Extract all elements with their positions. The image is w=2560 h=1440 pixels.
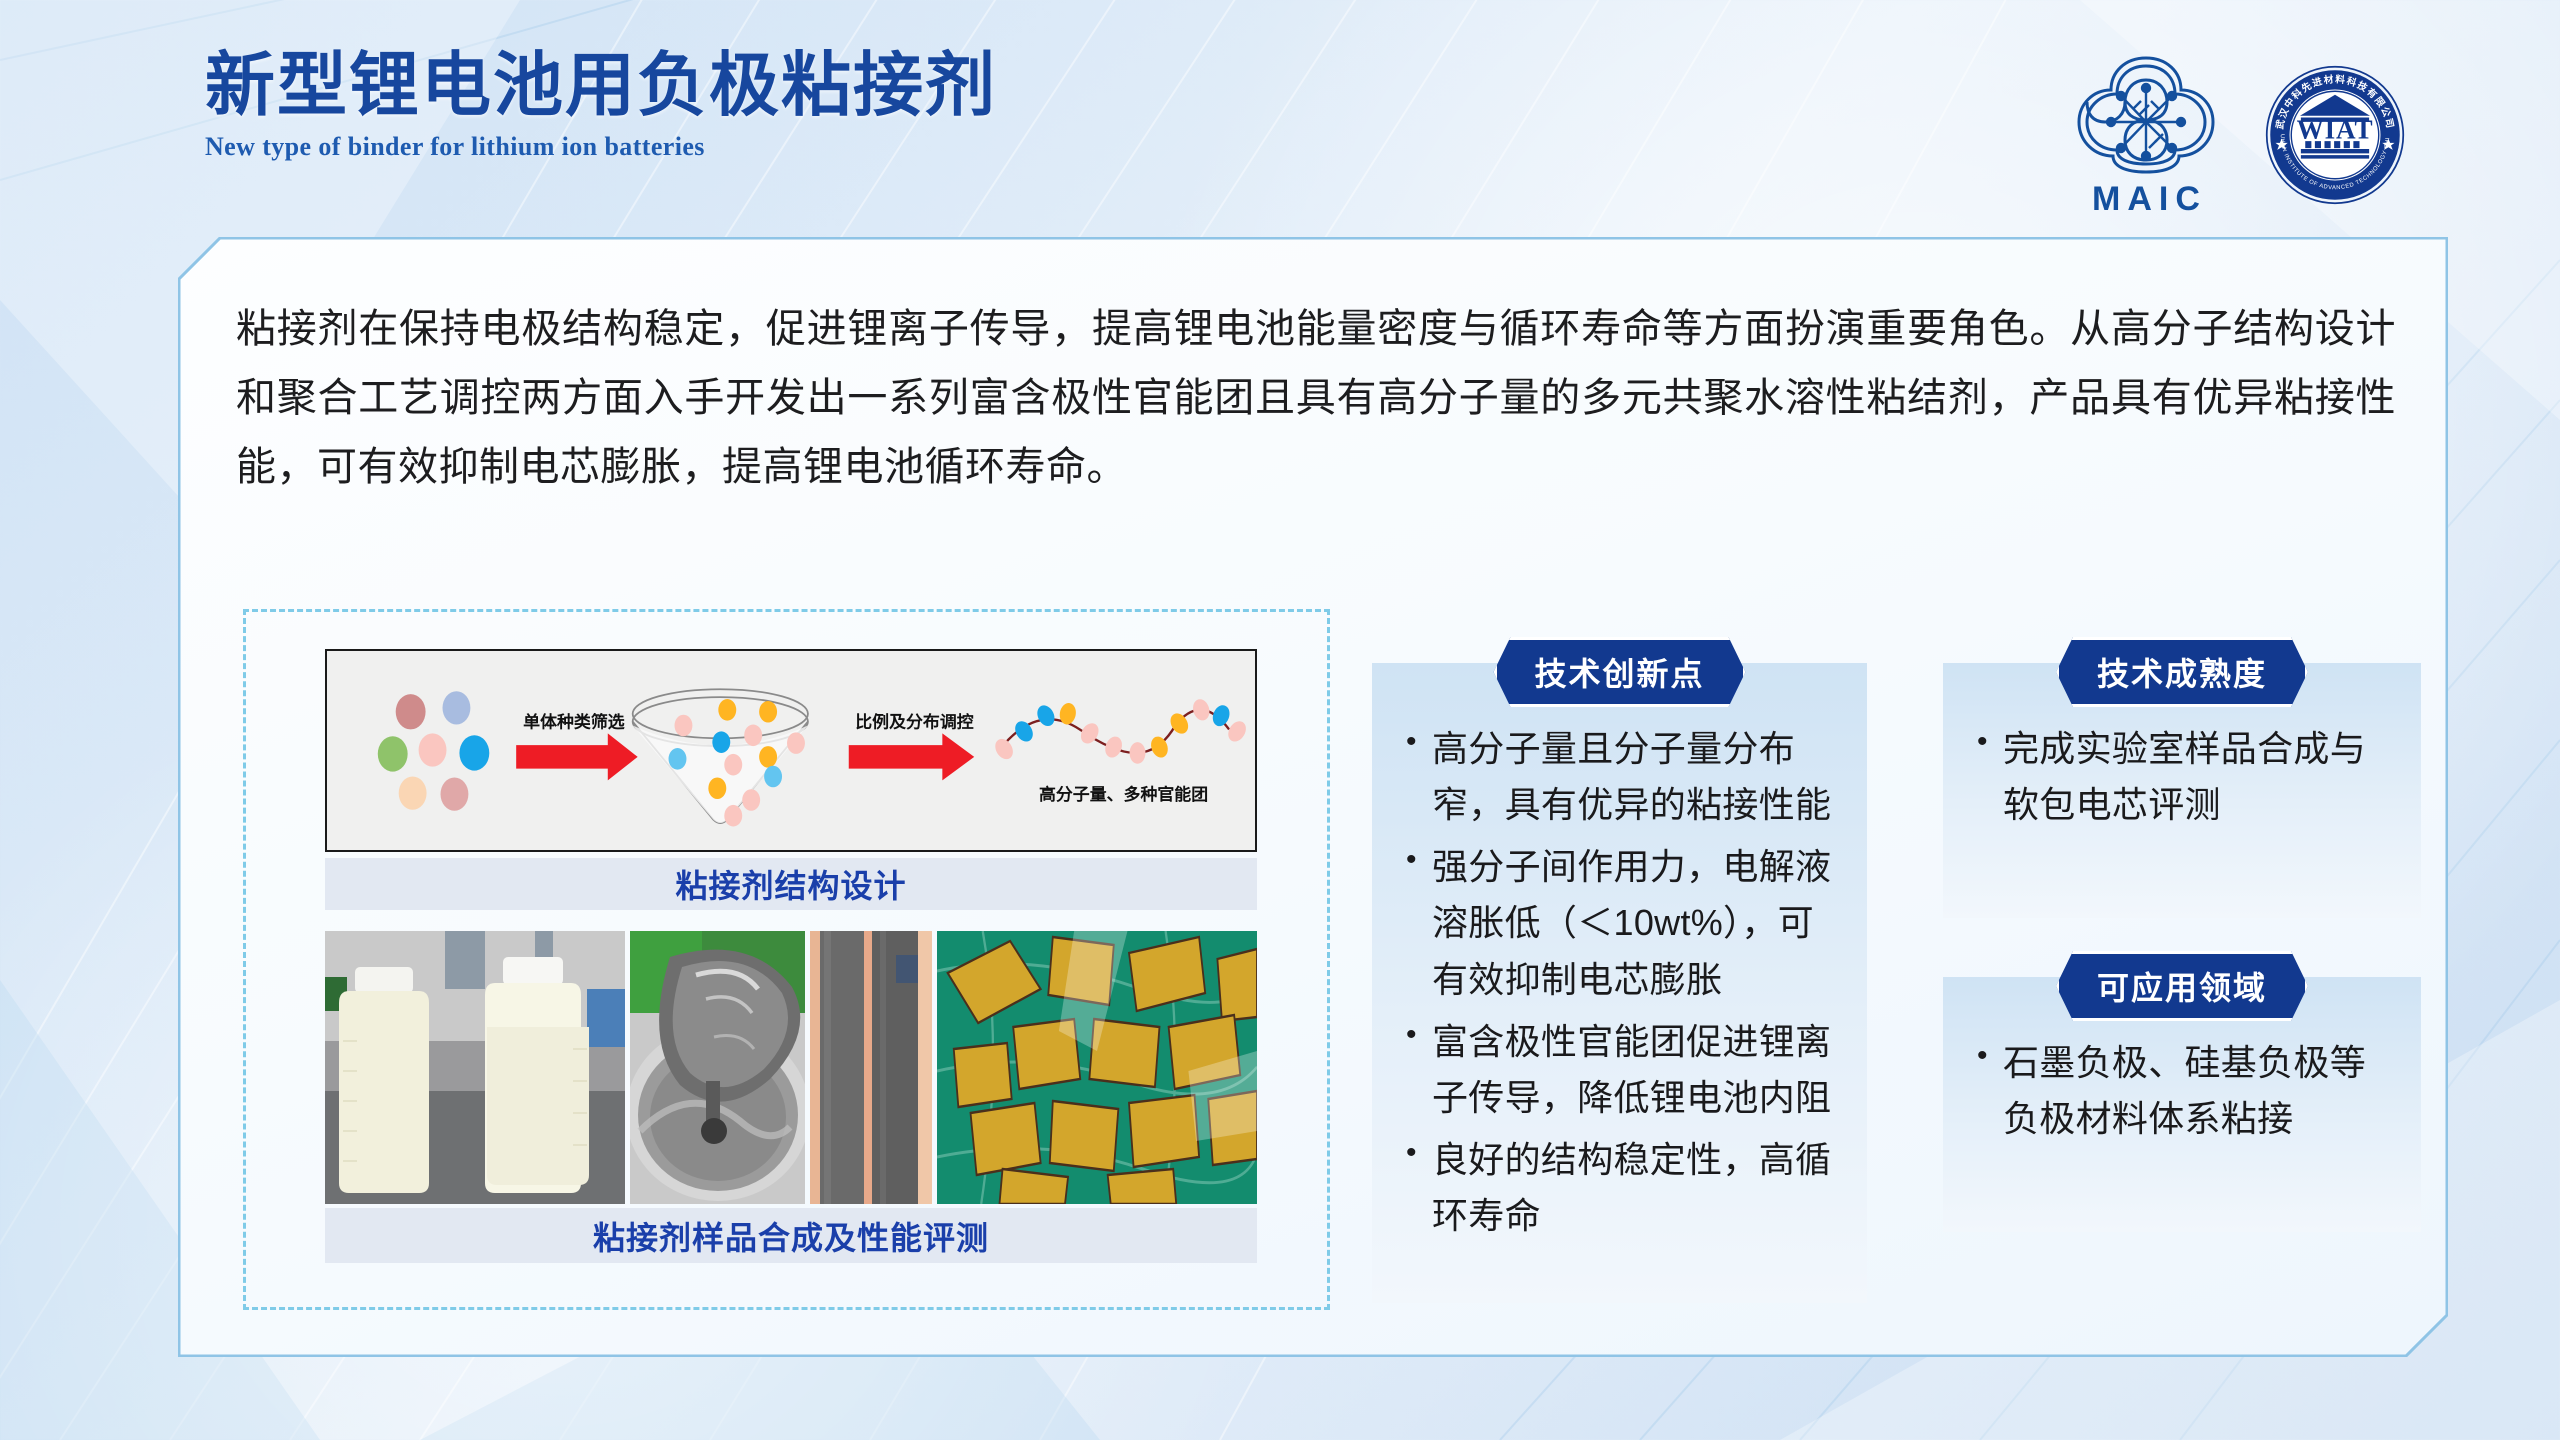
page-subtitle: New type of binder for lithium ion batte… — [205, 132, 997, 162]
page-title: 新型锂电池用负极粘接剂 — [205, 48, 997, 124]
svg-text:WIAT: WIAT — [2297, 114, 2374, 144]
logo-group: MAIC 武汉中科先进材料科技有限公司 WUHAN INSTITUTE OF A… — [2071, 50, 2405, 219]
panel-innovation-title: 技术创新点 — [1493, 637, 1745, 707]
list-item: 石墨负极、硅基负极等负极材料体系粘接 — [1977, 1035, 2387, 1147]
list-item: 完成实验室样品合成与软包电芯评测 — [1977, 721, 2387, 833]
binder-bottles-photo — [325, 931, 625, 1204]
innovation-bullet-list: 高分子量且分子量分布窄，具有优异的粘接性能 强分子间作用力，电解液溶胀低（＜10… — [1406, 721, 1833, 1244]
sample-photo-strip — [325, 931, 1257, 1204]
list-item: 良好的结构稳定性，高循环寿命 — [1406, 1132, 1833, 1244]
binder-structure-diagram: 单体种类筛选 比例及分布调控 — [325, 649, 1257, 852]
panel-innovation-body: 高分子量且分子量分布窄，具有优异的粘接性能 强分子间作用力，电解液溶胀低（＜10… — [1372, 663, 1867, 1303]
list-item: 高分子量且分子量分布窄，具有优异的粘接性能 — [1406, 721, 1833, 833]
maic-logo: MAIC — [2071, 50, 2221, 219]
intro-text: 粘接剂在保持电极结构稳定，促进锂离子传导，提高锂电池能量密度与循环寿命等方面扮演… — [236, 295, 2396, 501]
panel-maturity-title: 技术成熟度 — [2056, 637, 2308, 707]
panel-application: 可应用领域 石墨负极、硅基负极等负极材料体系粘接 — [1943, 977, 2421, 1232]
electrode-sheets-photo — [937, 931, 1257, 1204]
diagram-caption-bottom: 粘接剂样品合成及性能评测 — [325, 1208, 1257, 1263]
title-block: 新型锂电池用负极粘接剂 New type of binder for lithi… — [205, 48, 997, 162]
svg-text:单体种类筛选: 单体种类筛选 — [523, 712, 625, 732]
maic-logo-icon — [2071, 50, 2221, 178]
coated-foil-photo — [810, 931, 932, 1204]
slurry-mixer-photo — [630, 931, 805, 1204]
wiat-logo-icon: 武汉中科先进材料科技有限公司 WUHAN INSTITUTE OF ADVANC… — [2265, 65, 2405, 205]
diagram-caption-top: 粘接剂结构设计 — [325, 858, 1257, 910]
intro-paragraph: 粘接剂在保持电极结构稳定，促进锂离子传导，提高锂电池能量密度与循环寿命等方面扮演… — [236, 295, 2396, 501]
panel-innovation: 技术创新点 高分子量且分子量分布窄，具有优异的粘接性能 强分子间作用力，电解液溶… — [1372, 663, 1867, 1303]
panel-application-title: 可应用领域 — [2056, 951, 2308, 1021]
panel-maturity: 技术成熟度 完成实验室样品合成与软包电芯评测 — [1943, 663, 2421, 918]
maic-logo-text: MAIC — [2085, 180, 2207, 219]
application-bullet-list: 石墨负极、硅基负极等负极材料体系粘接 — [1977, 1035, 2387, 1147]
list-item: 强分子间作用力，电解液溶胀低（＜10wt%），可有效抑制电芯膨胀 — [1406, 839, 1833, 1007]
page-header: 新型锂电池用负极粘接剂 New type of binder for lithi… — [0, 0, 2560, 230]
svg-text:高分子量、多种官能团: 高分子量、多种官能团 — [1039, 784, 1208, 804]
maturity-bullet-list: 完成实验室样品合成与软包电芯评测 — [1977, 721, 2387, 833]
list-item: 富含极性官能团促进锂离子传导，降低锂电池内阻 — [1406, 1014, 1833, 1126]
svg-text:比例及分布调控: 比例及分布调控 — [855, 712, 974, 732]
